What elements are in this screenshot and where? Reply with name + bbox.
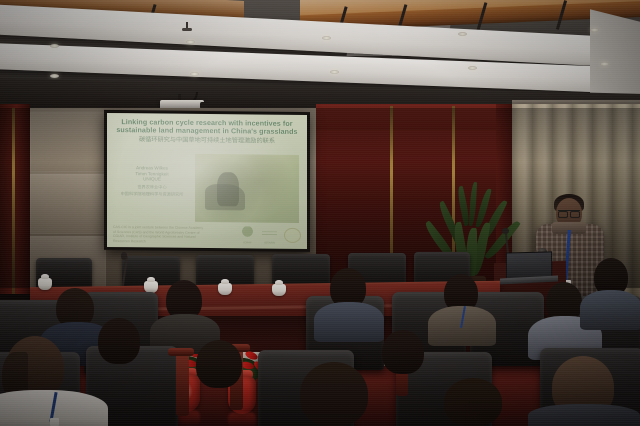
slide-photograph	[195, 154, 299, 223]
audience-shoulders	[528, 404, 640, 426]
wall-panel	[30, 174, 106, 234]
slide-logo-row: ICRAF IGSNRR	[240, 226, 301, 245]
tree-logo: ICRAF	[240, 226, 255, 244]
audience-shoulders	[580, 290, 640, 330]
ceiling-downlight	[600, 62, 609, 66]
projection-screen-frame: Linking carbon cycle research with incen…	[104, 110, 310, 252]
ceiling-downlight	[590, 28, 599, 32]
wave-logo: IGSNRR	[262, 227, 277, 245]
audience-head	[300, 362, 368, 426]
seal-logo	[284, 228, 301, 244]
slide-author-block: Andreas Wilkes Timm Tennigkeit UNIQUE 世界…	[113, 165, 191, 197]
ceiling-downlight	[50, 74, 59, 78]
ceiling-downlight	[458, 32, 467, 36]
audience-head	[196, 340, 242, 388]
teacup	[38, 278, 52, 290]
teacup	[272, 284, 286, 296]
teacup	[218, 283, 232, 295]
poinsettia-floor-reflection	[228, 412, 256, 426]
wall-panel	[30, 112, 106, 172]
slide-title-chinese: 碳循环研究与中国草地可持续土地管理激励的联系	[113, 136, 301, 145]
presentation-slide: Linking carbon cycle research with incen…	[107, 113, 307, 249]
audience-head	[98, 318, 140, 364]
table-microphone-head-icon	[121, 252, 127, 260]
wave-logo-caption: IGSNRR	[264, 241, 275, 245]
slide-photo-figure	[217, 172, 239, 206]
audience-head	[382, 330, 424, 374]
ceiling-downlight	[50, 44, 59, 48]
ceiling-downlight	[330, 70, 339, 74]
gold-trim-strip	[12, 108, 15, 294]
tree-logo-icon	[240, 226, 255, 239]
wood-wall-upper-band	[316, 104, 516, 130]
seat-armrest	[168, 348, 194, 356]
wood-wall-panel	[0, 104, 30, 294]
ceiling-downlight	[186, 40, 195, 44]
audience-badge	[50, 418, 59, 426]
ceiling-downlight	[322, 36, 331, 40]
conference-photo: Linking carbon cycle research with incen…	[0, 0, 640, 426]
tree-logo-caption: ICRAF	[243, 240, 251, 244]
projection-screen: Linking carbon cycle research with incen…	[107, 113, 307, 249]
slide-footer-text: CAS-CIC is a joint venture between the C…	[113, 225, 205, 244]
ceiling-downlight	[468, 66, 477, 70]
slide-author-chinese-2: 中国科学院地理科学与资源研究所	[113, 191, 191, 197]
seal-logo-icon	[284, 228, 301, 243]
gooseneck-microphone-head-icon	[502, 228, 509, 234]
sprinkler-head	[186, 22, 188, 29]
eyeglasses-icon	[558, 210, 580, 216]
audience-head	[444, 378, 502, 426]
slide-author-chinese-1: 世界农林业中心	[113, 184, 191, 190]
ceiling-downlight	[190, 72, 199, 76]
slide-author-affiliation: UNIQUE	[113, 176, 191, 182]
audience-shoulders	[314, 302, 384, 342]
wave-logo-icon	[262, 227, 277, 240]
slide-footer-block: CAS-CIC is a joint venture between the C…	[113, 225, 205, 244]
seat-armrest	[176, 350, 189, 416]
